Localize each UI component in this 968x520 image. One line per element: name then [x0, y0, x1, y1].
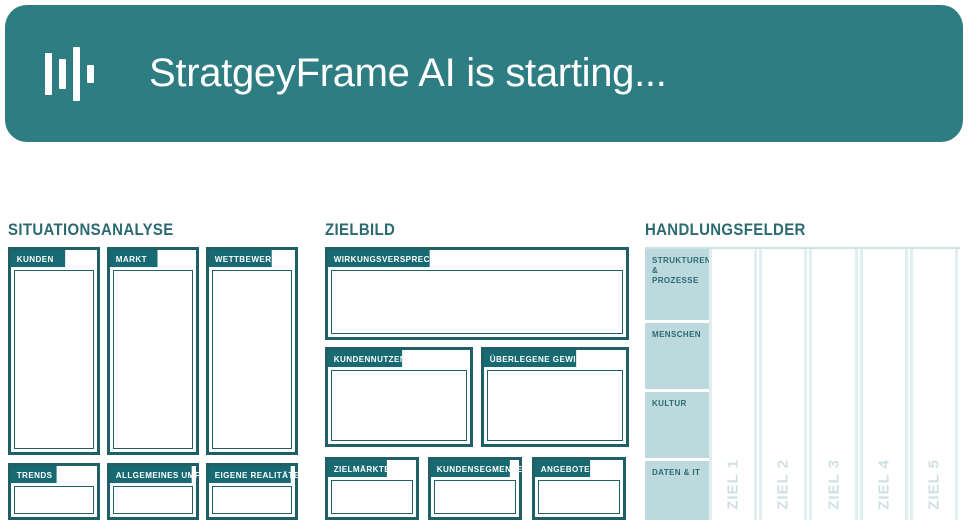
row-label-daten-it[interactable]: DATEN & IT	[645, 461, 709, 520]
card-body-kunden[interactable]	[14, 270, 94, 449]
card-eigene-realitaeten[interactable]: EIGENE REALITÄTEN	[206, 463, 298, 520]
card-angebote[interactable]: ANGEBOTE	[532, 457, 626, 520]
card-label-markt: MARKT	[110, 250, 158, 267]
column-ziel-2[interactable]: ZIEL 2	[759, 249, 807, 520]
equalizer-bars-icon	[45, 43, 111, 105]
row-label-kultur[interactable]: KULTUR	[645, 392, 709, 458]
card-wirkungsversprechen[interactable]: WIRKUNGSVERSPRECHEN	[325, 247, 629, 340]
section-handlungsfelder: HANDLUNGSFELDER STRUKTUREN & PROZESSE ME…	[645, 142, 960, 520]
section-title-zielbild: ZIELBILD	[325, 220, 395, 240]
card-label-zielmaerkte: ZIELMÄRKTE	[328, 460, 387, 477]
column-label-ziel-1: ZIEL 1	[725, 459, 742, 510]
section-situationsanalyse: SITUATIONSANALYSE KUNDEN MARKT WETTBEWER…	[8, 142, 308, 520]
card-label-eigene-realitaeten: EIGENE REALITÄTEN	[209, 466, 291, 483]
card-body-zielmaerkte[interactable]	[331, 480, 413, 514]
section-zielbild: ZIELBILD WIRKUNGSVERSPRECHEN KUNDENNUTZE…	[325, 142, 629, 520]
column-ziel-5[interactable]: ZIEL 5	[910, 249, 958, 520]
card-label-angebote: ANGEBOTE	[535, 460, 590, 477]
card-body-wirkungsversprechen[interactable]	[331, 270, 623, 334]
row-label-strukturen-prozesse[interactable]: STRUKTUREN & PROZESSE	[645, 249, 709, 320]
card-label-allgemeines-umfeld: ALLGEMEINES UMFELD	[110, 466, 192, 483]
handlungsfelder-grid: STRUKTUREN & PROZESSE MENSCHEN KULTUR DA…	[645, 247, 960, 520]
card-label-ueberlegene-gewinne: ÜBERLEGENE GEWINNE	[484, 350, 576, 367]
column-label-ziel-4: ZIEL 4	[875, 459, 892, 510]
card-label-kundensegmente: KUNDENSEGMENTE	[431, 460, 510, 477]
column-ziel-1[interactable]: ZIEL 1	[709, 249, 757, 520]
card-body-trends[interactable]	[14, 486, 94, 514]
section-title-handlungsfelder: HANDLUNGSFELDER	[645, 220, 806, 240]
card-label-kundennutzen: KUNDENNUTZEN	[328, 350, 402, 367]
card-body-ueberlegene-gewinne[interactable]	[487, 370, 623, 441]
handlungsfelder-columns: ZIEL 1 ZIEL 2 ZIEL 3 ZIEL 4 ZIEL 5	[709, 249, 960, 520]
card-label-wirkungsversprechen: WIRKUNGSVERSPRECHEN	[328, 250, 430, 267]
card-body-markt[interactable]	[113, 270, 193, 449]
card-kundennutzen[interactable]: KUNDENNUTZEN	[325, 347, 473, 447]
card-body-allgemeines-umfeld[interactable]	[113, 486, 193, 514]
card-ueberlegene-gewinne[interactable]: ÜBERLEGENE GEWINNE	[481, 347, 629, 447]
card-markt[interactable]: MARKT	[107, 247, 199, 455]
column-label-ziel-5: ZIEL 5	[925, 459, 942, 510]
strategy-canvas: SITUATIONSANALYSE KUNDEN MARKT WETTBEWER…	[0, 142, 968, 520]
card-label-wettbewerb: WETTBEWERB	[209, 250, 272, 267]
column-ziel-3[interactable]: ZIEL 3	[809, 249, 857, 520]
card-label-kunden: KUNDEN	[11, 250, 65, 267]
card-wettbewerb[interactable]: WETTBEWERB	[206, 247, 298, 455]
app-header-banner: StratgeyFrame AI is starting...	[5, 5, 963, 142]
column-label-ziel-3: ZIEL 3	[825, 459, 842, 510]
card-body-kundennutzen[interactable]	[331, 370, 467, 441]
card-body-eigene-realitaeten[interactable]	[212, 486, 292, 514]
card-allgemeines-umfeld[interactable]: ALLGEMEINES UMFELD	[107, 463, 199, 520]
card-kunden[interactable]: KUNDEN	[8, 247, 100, 455]
column-label-ziel-2: ZIEL 2	[775, 459, 792, 510]
card-label-trends: TRENDS	[11, 466, 57, 483]
card-kundensegmente[interactable]: KUNDENSEGMENTE	[428, 457, 522, 520]
card-body-wettbewerb[interactable]	[212, 270, 292, 449]
card-trends[interactable]: TRENDS	[8, 463, 100, 520]
card-zielmaerkte[interactable]: ZIELMÄRKTE	[325, 457, 419, 520]
section-title-situationsanalyse: SITUATIONSANALYSE	[8, 220, 174, 240]
card-body-kundensegmente[interactable]	[434, 480, 516, 514]
column-ziel-4[interactable]: ZIEL 4	[860, 249, 908, 520]
card-body-angebote[interactable]	[538, 480, 620, 514]
handlungsfelder-row-labels: STRUKTUREN & PROZESSE MENSCHEN KULTUR DA…	[645, 249, 709, 520]
app-title: StratgeyFrame AI is starting...	[149, 51, 667, 96]
row-label-menschen[interactable]: MENSCHEN	[645, 323, 709, 389]
app-root: StratgeyFrame AI is starting... SITUATIO…	[0, 0, 968, 520]
